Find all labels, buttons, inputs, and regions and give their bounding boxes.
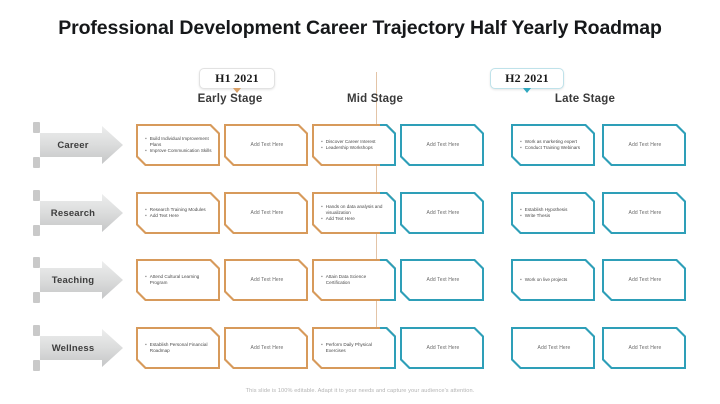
row-arrow-wellness[interactable]: Wellness bbox=[40, 329, 123, 367]
bullet-icon: ▪ bbox=[321, 145, 323, 151]
card-bullet-text: Attend Cultural Learning Program bbox=[150, 274, 213, 286]
card-content: Add Text Here bbox=[602, 124, 686, 166]
card-bullet-item: ▪Build Individual Improvement Plans bbox=[145, 136, 213, 148]
roadmap-card[interactable]: Add Text Here bbox=[511, 327, 595, 369]
card-content: Add Text Here bbox=[224, 192, 308, 234]
footer-note: This slide is 100% editable. Adapt it to… bbox=[0, 388, 720, 394]
card-bullet-item: ▪Write Thesis bbox=[520, 213, 588, 219]
roadmap-card[interactable]: ▪Attend Cultural Learning Program bbox=[136, 259, 220, 301]
card-placeholder-text: Add Text Here bbox=[233, 142, 301, 148]
card-placeholder-text: Add Text Here bbox=[611, 345, 679, 351]
card-bullet-item: ▪Attain Data Science Certification bbox=[321, 274, 389, 286]
card-content: ▪Research Training Modules▪Add Text Here bbox=[136, 192, 220, 234]
card-bullet-item: ▪Establish Personal Financial Roadmap bbox=[145, 342, 213, 354]
card-bullet-item: ▪Attend Cultural Learning Program bbox=[145, 274, 213, 286]
roadmap-card[interactable]: Add Text Here bbox=[400, 192, 484, 234]
card-bullet-text: Establish Personal Financial Roadmap bbox=[150, 342, 213, 354]
bullet-icon: ▪ bbox=[145, 213, 147, 219]
roadmap-card[interactable]: Add Text Here bbox=[224, 327, 308, 369]
badge-h1-2021[interactable]: H1 2021 bbox=[199, 68, 275, 89]
row-arrow-label: Wellness bbox=[40, 329, 106, 367]
row-handle-icon bbox=[33, 292, 40, 303]
card-placeholder-text: Add Text Here bbox=[233, 277, 301, 283]
card-content: ▪Establish Personal Financial Roadmap bbox=[136, 327, 220, 369]
roadmap-card[interactable]: ▪Discover Career Interest▪Leadership Wor… bbox=[312, 124, 396, 166]
roadmap-card[interactable]: Add Text Here bbox=[224, 192, 308, 234]
roadmap-card[interactable]: ▪Hands on data analysis and visualizatio… bbox=[312, 192, 396, 234]
roadmap-card[interactable]: ▪Work as marketing expert▪Conduct Traini… bbox=[511, 124, 595, 166]
roadmap-card[interactable]: Add Text Here bbox=[400, 327, 484, 369]
card-bullet-text: Leadership Workshops bbox=[326, 145, 389, 151]
roadmap-card[interactable]: ▪Build Individual Improvement Plans▪Impr… bbox=[136, 124, 220, 166]
card-bullet-text: Write Thesis bbox=[525, 213, 588, 219]
card-bullet-item: ▪Hands on data analysis and visualizatio… bbox=[321, 204, 389, 216]
card-placeholder-text: Add Text Here bbox=[233, 210, 301, 216]
card-content: Add Text Here bbox=[602, 259, 686, 301]
card-bullet-item: ▪Add Text Here bbox=[321, 216, 389, 222]
roadmap-card[interactable]: Add Text Here bbox=[224, 124, 308, 166]
bullet-icon: ▪ bbox=[321, 342, 323, 348]
row-arrow-research[interactable]: Research bbox=[40, 194, 123, 232]
card-bullet-item: ▪Improve Communication Skills bbox=[145, 148, 213, 154]
card-placeholder-text: Add Text Here bbox=[409, 210, 477, 216]
card-bullet-item: ▪Leadership Workshops bbox=[321, 145, 389, 151]
roadmap-card[interactable]: ▪Attain Data Science Certification bbox=[312, 259, 396, 301]
badge-h2-2021[interactable]: H2 2021 bbox=[490, 68, 564, 89]
row-handle-icon bbox=[33, 157, 40, 168]
card-placeholder-text: Add Text Here bbox=[611, 210, 679, 216]
roadmap-slide: Professional Development Career Trajecto… bbox=[0, 0, 720, 404]
row-arrow-label: Career bbox=[40, 126, 106, 164]
bullet-icon: ▪ bbox=[321, 274, 323, 280]
card-bullet-text: Add Text Here bbox=[326, 216, 389, 222]
roadmap-card[interactable]: ▪Research Training Modules▪Add Text Here bbox=[136, 192, 220, 234]
card-content: Add Text Here bbox=[400, 259, 484, 301]
card-content: ▪Establish Hypothesis▪Write Thesis bbox=[511, 192, 595, 234]
card-content: ▪Perform Daily Physical Exercises bbox=[312, 327, 396, 369]
card-placeholder-text: Add Text Here bbox=[520, 345, 588, 351]
roadmap-card[interactable]: Add Text Here bbox=[224, 259, 308, 301]
stage-header-early: Early Stage bbox=[140, 93, 320, 105]
bullet-icon: ▪ bbox=[145, 274, 147, 280]
roadmap-card[interactable]: ▪Establish Hypothesis▪Write Thesis bbox=[511, 192, 595, 234]
row-handle-icon bbox=[33, 122, 40, 133]
card-bullet-text: Attain Data Science Certification bbox=[326, 274, 389, 286]
card-bullet-item: ▪Conduct Training Webinars bbox=[520, 145, 588, 151]
row-handle-icon bbox=[33, 360, 40, 371]
roadmap-card[interactable]: ▪Perform Daily Physical Exercises bbox=[312, 327, 396, 369]
card-bullet-text: Improve Communication Skills bbox=[150, 148, 213, 154]
card-placeholder-text: Add Text Here bbox=[409, 277, 477, 283]
card-content: Add Text Here bbox=[224, 327, 308, 369]
card-bullet-item: ▪Work on live projects bbox=[520, 277, 588, 283]
card-content: ▪Work as marketing expert▪Conduct Traini… bbox=[511, 124, 595, 166]
page-title: Professional Development Career Trajecto… bbox=[0, 17, 720, 40]
card-bullet-text: Add Text Here bbox=[150, 213, 213, 219]
card-content: ▪Work on live projects bbox=[511, 259, 595, 301]
roadmap-card[interactable]: ▪Work on live projects bbox=[511, 259, 595, 301]
card-content: Add Text Here bbox=[400, 124, 484, 166]
row-handle-icon bbox=[33, 225, 40, 236]
card-placeholder-text: Add Text Here bbox=[611, 142, 679, 148]
roadmap-row: Wellness▪Establish Personal Financial Ro… bbox=[0, 325, 720, 371]
card-bullet-item: ▪Perform Daily Physical Exercises bbox=[321, 342, 389, 354]
stage-header-mid: Mid Stage bbox=[305, 93, 445, 105]
roadmap-card[interactable]: Add Text Here bbox=[400, 259, 484, 301]
roadmap-card[interactable]: ▪Establish Personal Financial Roadmap bbox=[136, 327, 220, 369]
card-content: Add Text Here bbox=[224, 124, 308, 166]
row-handle-icon bbox=[33, 190, 40, 201]
card-placeholder-text: Add Text Here bbox=[611, 277, 679, 283]
card-bullet-text: Build Individual Improvement Plans bbox=[150, 136, 213, 148]
bullet-icon: ▪ bbox=[321, 204, 323, 210]
card-bullet-text: Hands on data analysis and visualization bbox=[326, 204, 389, 216]
card-content: Add Text Here bbox=[224, 259, 308, 301]
row-handle-icon bbox=[33, 257, 40, 268]
roadmap-row: Research▪Research Training Modules▪Add T… bbox=[0, 190, 720, 236]
card-content: ▪Attain Data Science Certification bbox=[312, 259, 396, 301]
bullet-icon: ▪ bbox=[145, 148, 147, 154]
card-bullet-text: Work on live projects bbox=[525, 277, 588, 283]
card-bullet-text: Conduct Training Webinars bbox=[525, 145, 588, 151]
card-placeholder-text: Add Text Here bbox=[409, 345, 477, 351]
badge-h2-label: H2 2021 bbox=[505, 71, 549, 86]
stage-header-late: Late Stage bbox=[495, 93, 675, 105]
card-content: Add Text Here bbox=[602, 327, 686, 369]
roadmap-card[interactable]: Add Text Here bbox=[602, 124, 686, 166]
card-content: ▪Hands on data analysis and visualizatio… bbox=[312, 192, 396, 234]
bullet-icon: ▪ bbox=[520, 213, 522, 219]
roadmap-row: Teaching▪Attend Cultural Learning Progra… bbox=[0, 257, 720, 303]
card-content: ▪Discover Career Interest▪Leadership Wor… bbox=[312, 124, 396, 166]
card-placeholder-text: Add Text Here bbox=[409, 142, 477, 148]
badge-h1-label: H1 2021 bbox=[215, 71, 259, 86]
card-bullet-text: Perform Daily Physical Exercises bbox=[326, 342, 389, 354]
row-arrow-label: Teaching bbox=[40, 261, 106, 299]
bullet-icon: ▪ bbox=[520, 145, 522, 151]
row-arrow-label: Research bbox=[40, 194, 106, 232]
row-arrow-teaching[interactable]: Teaching bbox=[40, 261, 123, 299]
card-content: Add Text Here bbox=[511, 327, 595, 369]
card-content: Add Text Here bbox=[400, 192, 484, 234]
card-content: Add Text Here bbox=[602, 192, 686, 234]
bullet-icon: ▪ bbox=[321, 216, 323, 222]
card-placeholder-text: Add Text Here bbox=[233, 345, 301, 351]
roadmap-card[interactable]: Add Text Here bbox=[602, 259, 686, 301]
card-content: Add Text Here bbox=[400, 327, 484, 369]
roadmap-card[interactable]: Add Text Here bbox=[602, 327, 686, 369]
bullet-icon: ▪ bbox=[145, 136, 147, 142]
bullet-icon: ▪ bbox=[520, 277, 522, 283]
roadmap-row: Career▪Build Individual Improvement Plan… bbox=[0, 122, 720, 168]
roadmap-card[interactable]: Add Text Here bbox=[400, 124, 484, 166]
card-content: ▪Attend Cultural Learning Program bbox=[136, 259, 220, 301]
card-content: ▪Build Individual Improvement Plans▪Impr… bbox=[136, 124, 220, 166]
roadmap-card[interactable]: Add Text Here bbox=[602, 192, 686, 234]
card-bullet-item: ▪Add Text Here bbox=[145, 213, 213, 219]
row-handle-icon bbox=[33, 325, 40, 336]
bullet-icon: ▪ bbox=[145, 342, 147, 348]
row-arrow-career[interactable]: Career bbox=[40, 126, 123, 164]
